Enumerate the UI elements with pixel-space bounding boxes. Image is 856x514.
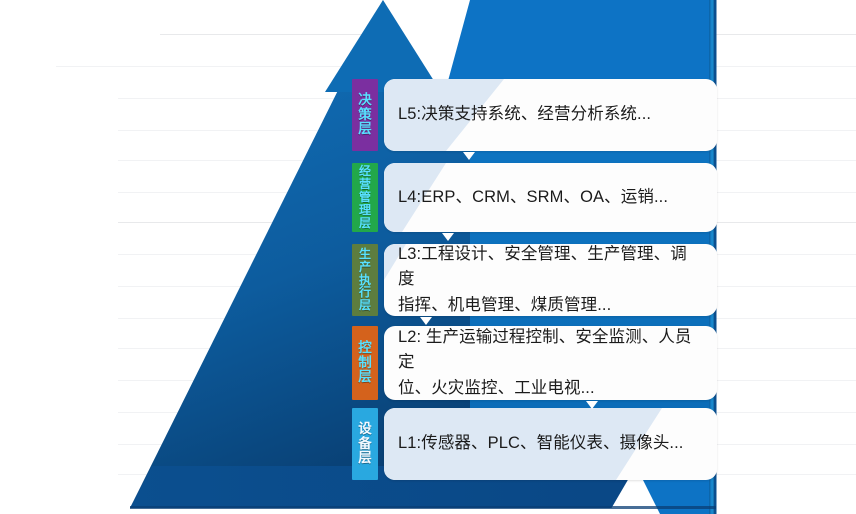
layer-tab-char: 设 [358, 422, 372, 437]
layer-tab-l1[interactable]: 设 备 层 [352, 408, 378, 480]
layer-card-text-l3: L3:工程设计、安全管理、生产管理、调度 指挥、机电管理、煤质管理... [384, 244, 717, 316]
layer-card-l1[interactable]: L1:传感器、PLC、智能仪表、摄像头... [384, 408, 717, 480]
layer-tab-l5[interactable]: 决 策 层 [352, 79, 378, 151]
layer-tab-char: 生 [359, 248, 371, 261]
connector-arrow-l3-l2 [420, 317, 432, 325]
layer-row-l2[interactable]: 控 制 层 L2: 生产运输过程控制、安全监测、人员定 位、火灾监控、工业电视.… [352, 326, 717, 400]
layer-tab-char: 策 [358, 108, 372, 123]
layer-card-l4[interactable]: L4:ERP、CRM、SRM、OA、运销... [384, 163, 717, 232]
card-line: L1:传感器、PLC、智能仪表、摄像头... [398, 431, 684, 457]
card-line: L3:工程设计、安全管理、生产管理、调度 [398, 244, 703, 293]
card-line: 指挥、机电管理、煤质管理... [398, 293, 703, 316]
layer-tab-char: 产 [359, 261, 371, 274]
layer-row-l5[interactable]: 决 策 层 L5:决策支持系统、经营分析系统... [352, 79, 717, 151]
layer-card-l2[interactable]: L2: 生产运输过程控制、安全监测、人员定 位、火灾监控、工业电视... [384, 326, 717, 400]
layer-row-l3[interactable]: 生 产 执 行 层 L3:工程设计、安全管理、生产管理、调度 指挥、机电管理、煤… [352, 244, 717, 316]
layer-tab-l3[interactable]: 生 产 执 行 层 [352, 244, 378, 316]
layer-row-l4[interactable]: 经 营 管 理 层 L4:ERP、CRM、SRM、OA、运销... [352, 163, 717, 232]
layer-card-text-l4: L4:ERP、CRM、SRM、OA、运销... [384, 185, 682, 211]
layer-row-l1[interactable]: 设 备 层 L1:传感器、PLC、智能仪表、摄像头... [352, 408, 717, 480]
layer-rows: 决 策 层 L5:决策支持系统、经营分析系统... 经 营 管 理 层 [0, 0, 856, 514]
layer-tab-char: 层 [358, 370, 372, 385]
layer-card-text-l5: L5:决策支持系统、经营分析系统... [384, 102, 665, 128]
card-line: L5:决策支持系统、经营分析系统... [398, 102, 651, 128]
connector-arrow-l5-l4 [463, 152, 475, 160]
layer-card-text-l1: L1:传感器、PLC、智能仪表、摄像头... [384, 431, 698, 457]
layer-card-l3[interactable]: L3:工程设计、安全管理、生产管理、调度 指挥、机电管理、煤质管理... [384, 244, 717, 316]
card-line: L4:ERP、CRM、SRM、OA、运销... [398, 185, 668, 211]
layer-tab-l4[interactable]: 经 营 管 理 层 [352, 163, 378, 232]
card-line: L2: 生产运输过程控制、安全监测、人员定 [398, 326, 703, 376]
layer-tab-char: 理 [359, 204, 371, 217]
connector-arrow-l2-l1 [586, 401, 598, 409]
layer-tab-char: 层 [358, 122, 372, 137]
layer-tab-char: 制 [358, 356, 372, 371]
layer-tab-char: 决 [358, 93, 372, 108]
layer-tab-char: 备 [358, 437, 372, 452]
connector-arrow-l4-l3 [442, 233, 454, 241]
layer-tab-char: 控 [358, 341, 372, 356]
layer-card-text-l2: L2: 生产运输过程控制、安全监测、人员定 位、火灾监控、工业电视... [384, 326, 717, 400]
layer-tab-char: 层 [359, 299, 371, 312]
layer-tab-l2[interactable]: 控 制 层 [352, 326, 378, 400]
layer-tab-char: 层 [359, 217, 371, 230]
card-line: 位、火灾监控、工业电视... [398, 376, 703, 400]
layer-tab-char: 层 [358, 451, 372, 466]
pyramid-diagram-canvas: 决 策 层 L5:决策支持系统、经营分析系统... 经 营 管 理 层 [0, 0, 856, 514]
layer-card-l5[interactable]: L5:决策支持系统、经营分析系统... [384, 79, 717, 151]
